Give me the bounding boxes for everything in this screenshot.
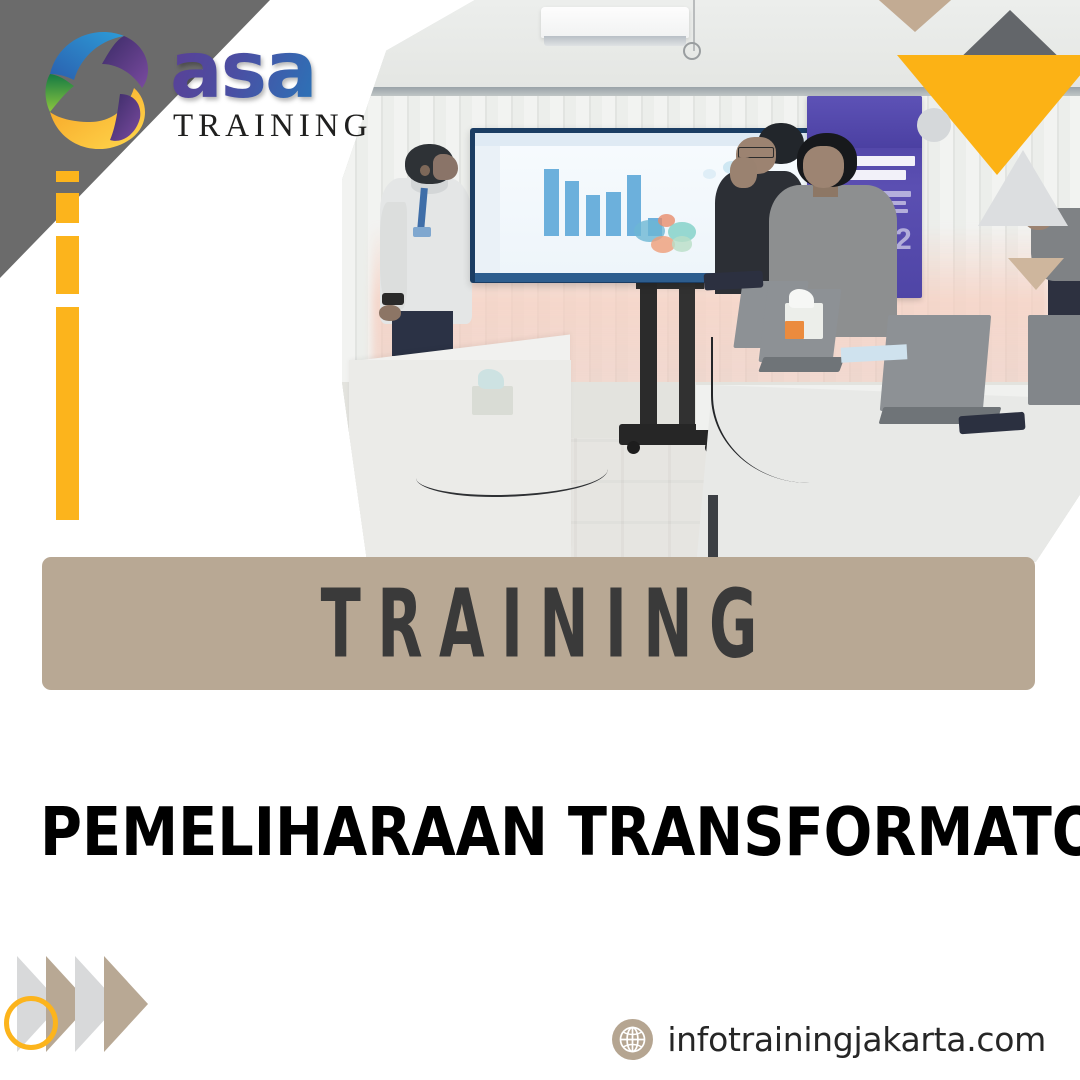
light-gray-triangle-up-icon bbox=[978, 150, 1068, 226]
accent-bar-3 bbox=[56, 236, 79, 294]
gray-circle-icon bbox=[917, 108, 951, 142]
asa-logo-mark bbox=[32, 22, 180, 177]
training-banner: TRAINING bbox=[42, 557, 1035, 690]
air-conditioner bbox=[541, 7, 689, 38]
globe-icon bbox=[612, 1019, 653, 1060]
laptop bbox=[880, 315, 992, 411]
yellow-circle-outline-icon bbox=[4, 996, 58, 1050]
chevron-4-icon bbox=[104, 956, 148, 1052]
brand-name: asa bbox=[170, 40, 372, 104]
website-url: infotrainingjakarta.com bbox=[667, 1020, 1046, 1059]
small-tan-triangle-down-icon bbox=[1008, 258, 1064, 290]
page-title: PEMELIHARAAN TRANSFORMATOR bbox=[40, 793, 1000, 871]
training-banner-label: TRAINING bbox=[304, 569, 774, 679]
accent-bar-4 bbox=[56, 307, 79, 520]
website-footer[interactable]: infotrainingjakarta.com bbox=[612, 1019, 1046, 1060]
accent-bar-2 bbox=[56, 193, 79, 223]
poster-canvas: 01 02 bbox=[0, 0, 1080, 1080]
brand-logo-text: asa TRAINING bbox=[170, 40, 372, 145]
